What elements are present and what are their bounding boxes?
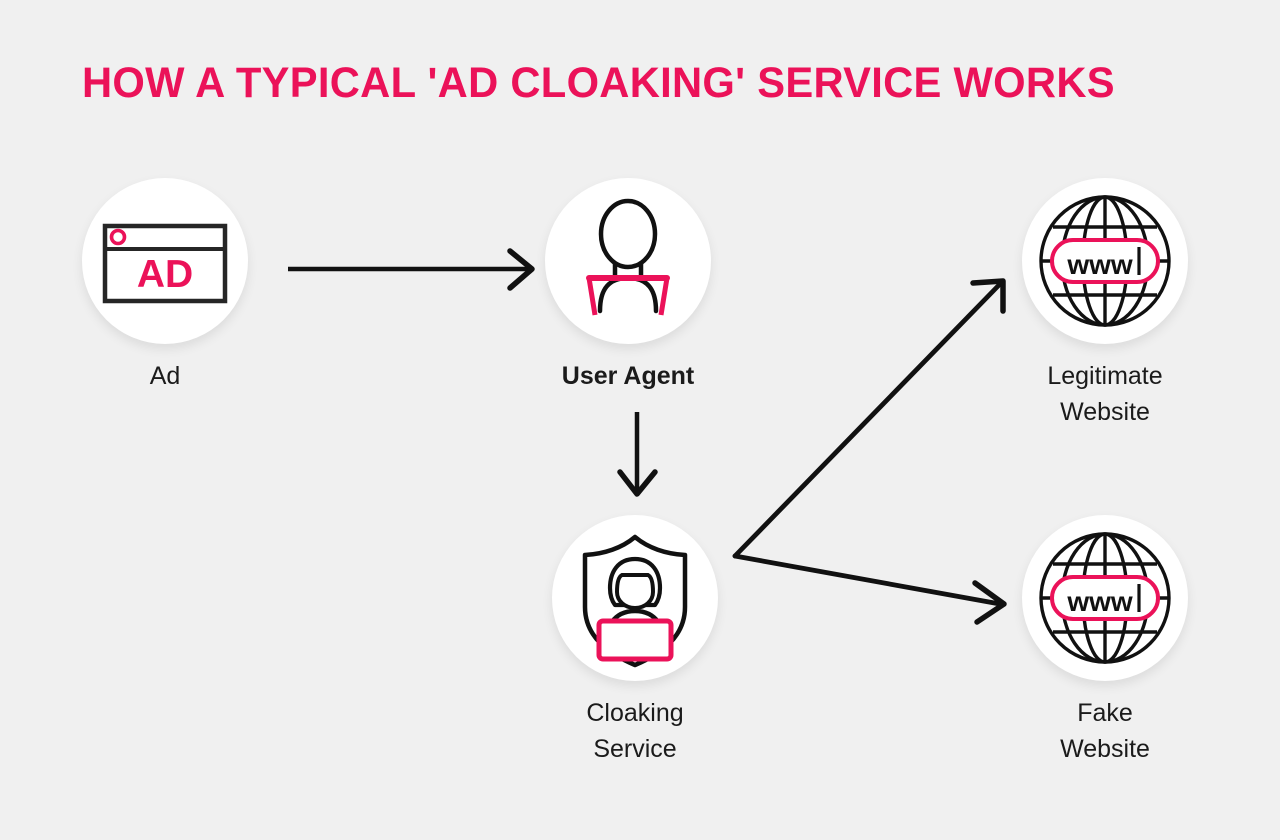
user-agent-icon-disc: [545, 178, 711, 344]
node-cloaking-service[interactable]: Cloaking Service: [485, 515, 785, 768]
shield-hacker-icon: [552, 515, 718, 681]
node-fake-website[interactable]: www Fake Website: [955, 515, 1255, 768]
globe-www-text: www: [1066, 586, 1133, 617]
node-legitimate-website[interactable]: www Legitimate Website: [955, 178, 1255, 431]
legitimate-website-icon-disc: www: [1022, 178, 1188, 344]
fake-website-icon-disc: www: [1022, 515, 1188, 681]
node-ad-label: Ad: [15, 358, 315, 394]
node-ad[interactable]: AD Ad: [15, 178, 315, 394]
node-cloaking-service-label: Cloaking Service: [485, 695, 785, 768]
node-user-agent[interactable]: User Agent: [478, 178, 778, 394]
ad-icon-disc: AD: [82, 178, 248, 344]
page-title: HOW A TYPICAL 'AD CLOAKING' SERVICE WORK…: [82, 62, 1115, 105]
arrow-user-agent-to-cloaking: [620, 412, 655, 494]
user-at-laptop-icon: [545, 178, 711, 344]
ad-banner-icon: AD: [82, 178, 248, 344]
node-legitimate-website-label: Legitimate Website: [955, 358, 1255, 431]
diagram-canvas: HOW A TYPICAL 'AD CLOAKING' SERVICE WORK…: [0, 0, 1280, 840]
node-user-agent-label: User Agent: [478, 358, 778, 394]
node-fake-website-label: Fake Website: [955, 695, 1255, 768]
globe-www-icon: www: [1022, 515, 1188, 681]
globe-www-text: www: [1066, 249, 1133, 280]
ad-icon-text: AD: [137, 253, 193, 296]
globe-www-icon: www: [1022, 178, 1188, 344]
cloaking-service-icon-disc: [552, 515, 718, 681]
